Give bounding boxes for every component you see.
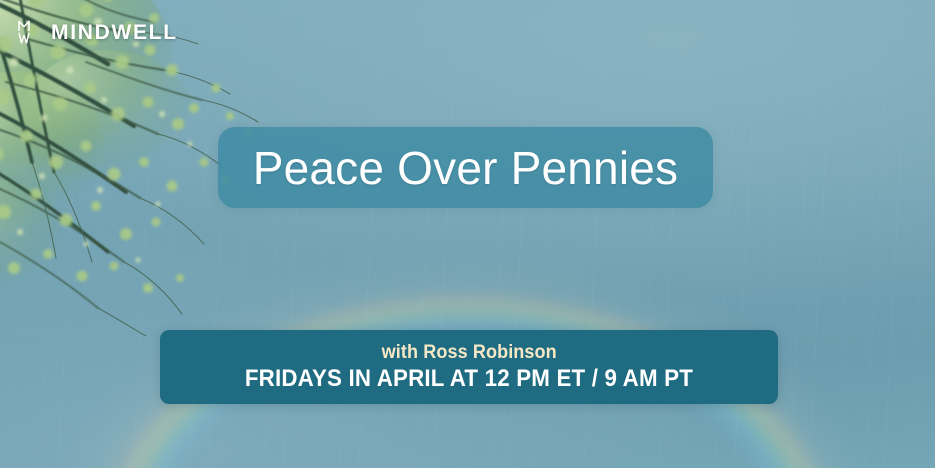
brand-logo[interactable]: MINDWELL	[16, 17, 178, 47]
event-schedule: FRIDAYS IN APRIL AT 12 PM ET / 9 AM PT	[245, 366, 693, 391]
title-banner: Peace Over Pennies	[218, 127, 713, 208]
brand-name: MINDWELL	[51, 22, 178, 43]
event-host: with Ross Robinson	[381, 343, 556, 363]
promo-graphic: MINDWELL Peace Over Pennies with Ross Ro…	[0, 0, 935, 468]
mindwell-monogram-icon	[16, 17, 42, 47]
page-title: Peace Over Pennies	[253, 145, 679, 191]
event-details-banner: with Ross Robinson FRIDAYS IN APRIL AT 1…	[160, 330, 778, 404]
